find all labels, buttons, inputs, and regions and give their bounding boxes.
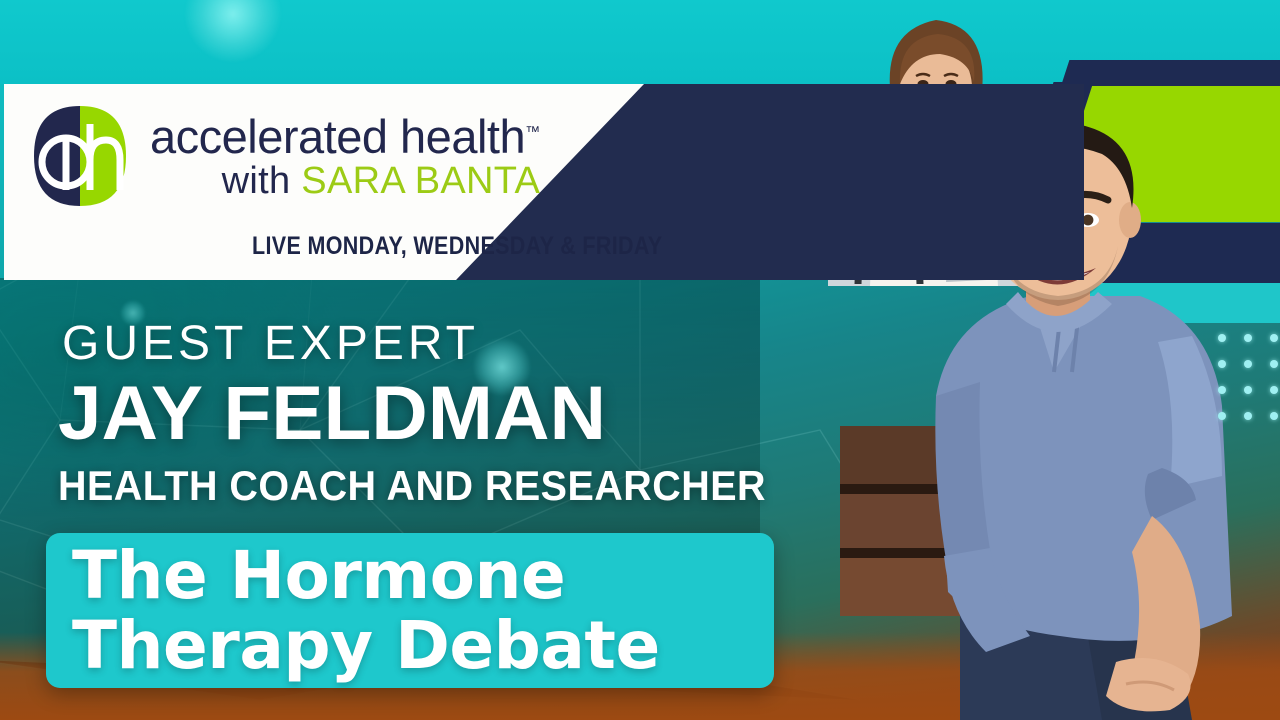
guest-role: HEALTH COACH AND RESEARCHER [58, 462, 766, 510]
ah-monogram-icon [26, 104, 134, 208]
trademark-symbol: ™ [525, 123, 540, 140]
guest-name: JAY FELDMAN [58, 370, 606, 457]
episode-title-line-1: The Hormone [72, 541, 774, 611]
brand-name: accelerated health™ [150, 113, 540, 160]
thumbnail-canvas: accelerated health™ with SARA BANTA LIVE… [0, 0, 1280, 720]
episode-title-box: The Hormone Therapy Debate [46, 533, 774, 688]
brand-banner: accelerated health™ with SARA BANTA LIVE… [4, 84, 1084, 280]
brand-name-text: accelerated health [150, 110, 525, 163]
brand-lockup: accelerated health™ with SARA BANTA [26, 104, 540, 208]
broadcast-schedule: LIVE MONDAY, WEDNESDAY & FRIDAY [252, 232, 663, 261]
guest-eyebrow-label: GUEST EXPERT [62, 316, 479, 371]
decorative-dot-grid [1218, 334, 1280, 438]
brand-host-line: with SARA BANTA [150, 162, 540, 200]
brand-wordmark: accelerated health™ with SARA BANTA [150, 113, 540, 200]
brand-with-word: with [222, 160, 302, 202]
brand-host-name: SARA BANTA [301, 160, 540, 202]
episode-title-line-2: Therapy Debate [72, 611, 774, 681]
